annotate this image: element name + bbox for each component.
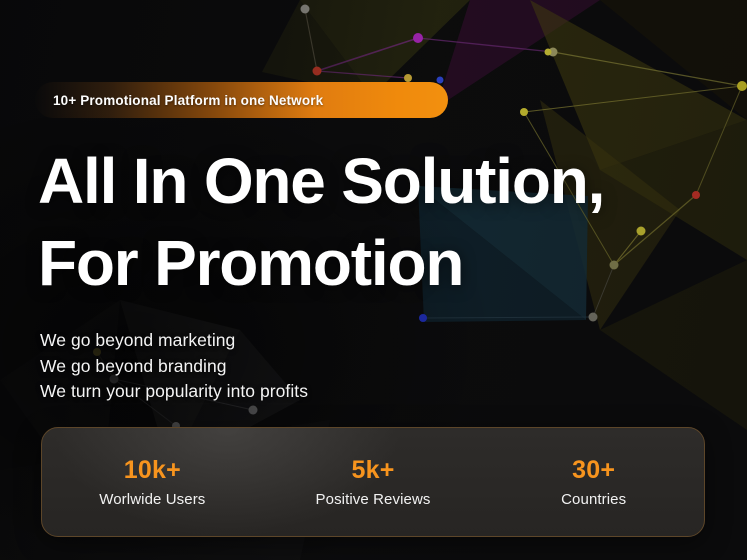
stat-label: Worlwide Users <box>99 492 205 507</box>
stat-item: 10k+Worlwide Users <box>42 458 263 507</box>
stat-label: Countries <box>561 492 626 507</box>
promo-badge-label: 10+ Promotional Platform in one Network <box>53 93 323 108</box>
page-title: All In One Solution, For Promotion <box>38 140 604 304</box>
page-title-line-1: All In One Solution, <box>38 140 604 222</box>
hero-subheading-line-3: We turn your popularity into profits <box>40 379 308 405</box>
hero-content: 10+ Promotional Platform in one Network … <box>0 0 747 560</box>
stat-item: 5k+Positive Reviews <box>263 458 484 507</box>
stat-item: 30+Countries <box>483 458 704 507</box>
page-title-line-2: For Promotion <box>38 222 604 304</box>
hero-subheading-line-2: We go beyond branding <box>40 354 308 380</box>
stats-card: 10k+Worlwide Users5k+Positive Reviews30+… <box>41 427 705 537</box>
hero-subheading: We go beyond marketing We go beyond bran… <box>40 328 308 405</box>
stat-label: Positive Reviews <box>316 492 431 507</box>
stat-value: 5k+ <box>352 458 395 483</box>
stat-value: 30+ <box>572 458 615 483</box>
promo-badge[interactable]: 10+ Promotional Platform in one Network <box>35 82 448 118</box>
hero-section: 10+ Promotional Platform in one Network … <box>0 0 747 560</box>
stat-value: 10k+ <box>124 458 181 483</box>
hero-subheading-line-1: We go beyond marketing <box>40 328 308 354</box>
